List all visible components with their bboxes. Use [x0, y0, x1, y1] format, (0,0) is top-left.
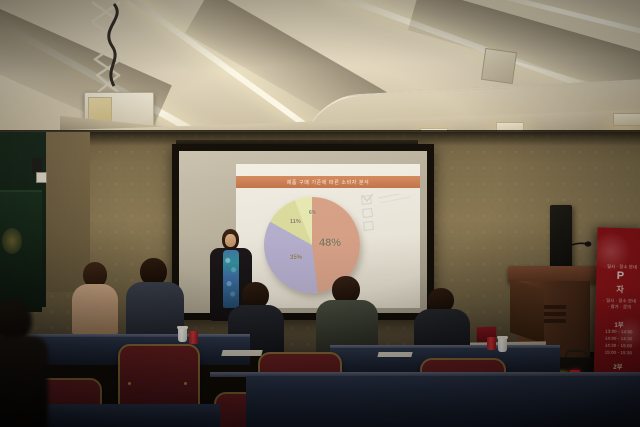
banner-session-1-time: 13:00 - 14:00: [595, 328, 640, 334]
audience-member: [72, 262, 118, 332]
ceiling: [0, 0, 640, 150]
slide-title-bar: 제품 구매 기준에 따른 소비자 분석: [236, 176, 420, 188]
scissor-lift-icon: [86, 0, 144, 98]
banquet-table-front: [246, 376, 640, 427]
projector-scissor-lift: [86, 0, 144, 98]
coffee-cup: [178, 328, 187, 342]
chair-stud: [128, 382, 131, 385]
coffee-cup: [189, 331, 198, 344]
audience-torso: [72, 284, 118, 334]
coffee-cup-lid: [177, 326, 188, 329]
coffee-cup: [498, 338, 507, 352]
lectern-side: [510, 278, 544, 343]
wall-sconce: [613, 113, 640, 126]
banner-session-2-label: 2부: [594, 361, 640, 371]
wall-plate: [36, 172, 47, 183]
conference-room-photo: 제품 구매 기준에 따른 소비자 분석 48% 35%: [0, 0, 640, 427]
pie-label-slice-2: 35%: [290, 255, 302, 261]
foreground-audience-member: [0, 300, 48, 427]
banner-subtitle: 자: [596, 283, 640, 295]
audience-torso: [0, 336, 48, 427]
coffee-cup: [487, 337, 496, 350]
pie-label-slice-4: 6%: [309, 210, 316, 216]
chair-stud: [184, 382, 187, 385]
microphone-gooseneck-icon: [556, 238, 592, 264]
handout-paper: [221, 350, 262, 356]
slide-title: 제품 구매 기준에 따른 소비자 분석: [287, 179, 370, 186]
ceiling-speaker: [481, 48, 517, 84]
audience-member: [126, 258, 184, 338]
handout-paper: [377, 352, 412, 357]
audience-member: [316, 276, 378, 354]
checklist-watermark-icon: [360, 194, 412, 238]
audience-torso: [126, 282, 184, 340]
pie-label-slice-1: 48%: [319, 237, 341, 249]
banner-session-1-time: 15:00 - 15:30: [594, 349, 640, 355]
banner-logo-text: P: [596, 269, 640, 282]
banner-session-1-time: 14:00 - 14:30: [595, 335, 640, 341]
pie-label-slice-3: 11%: [290, 219, 301, 225]
coffee-cup-lid: [497, 336, 508, 339]
presenter-face: [225, 234, 236, 247]
banner-note-2: · 참가 · 문의: [595, 303, 640, 310]
banner-session-1-time: 14:30 - 15:00: [594, 342, 640, 348]
wall-emblem: [2, 228, 22, 254]
